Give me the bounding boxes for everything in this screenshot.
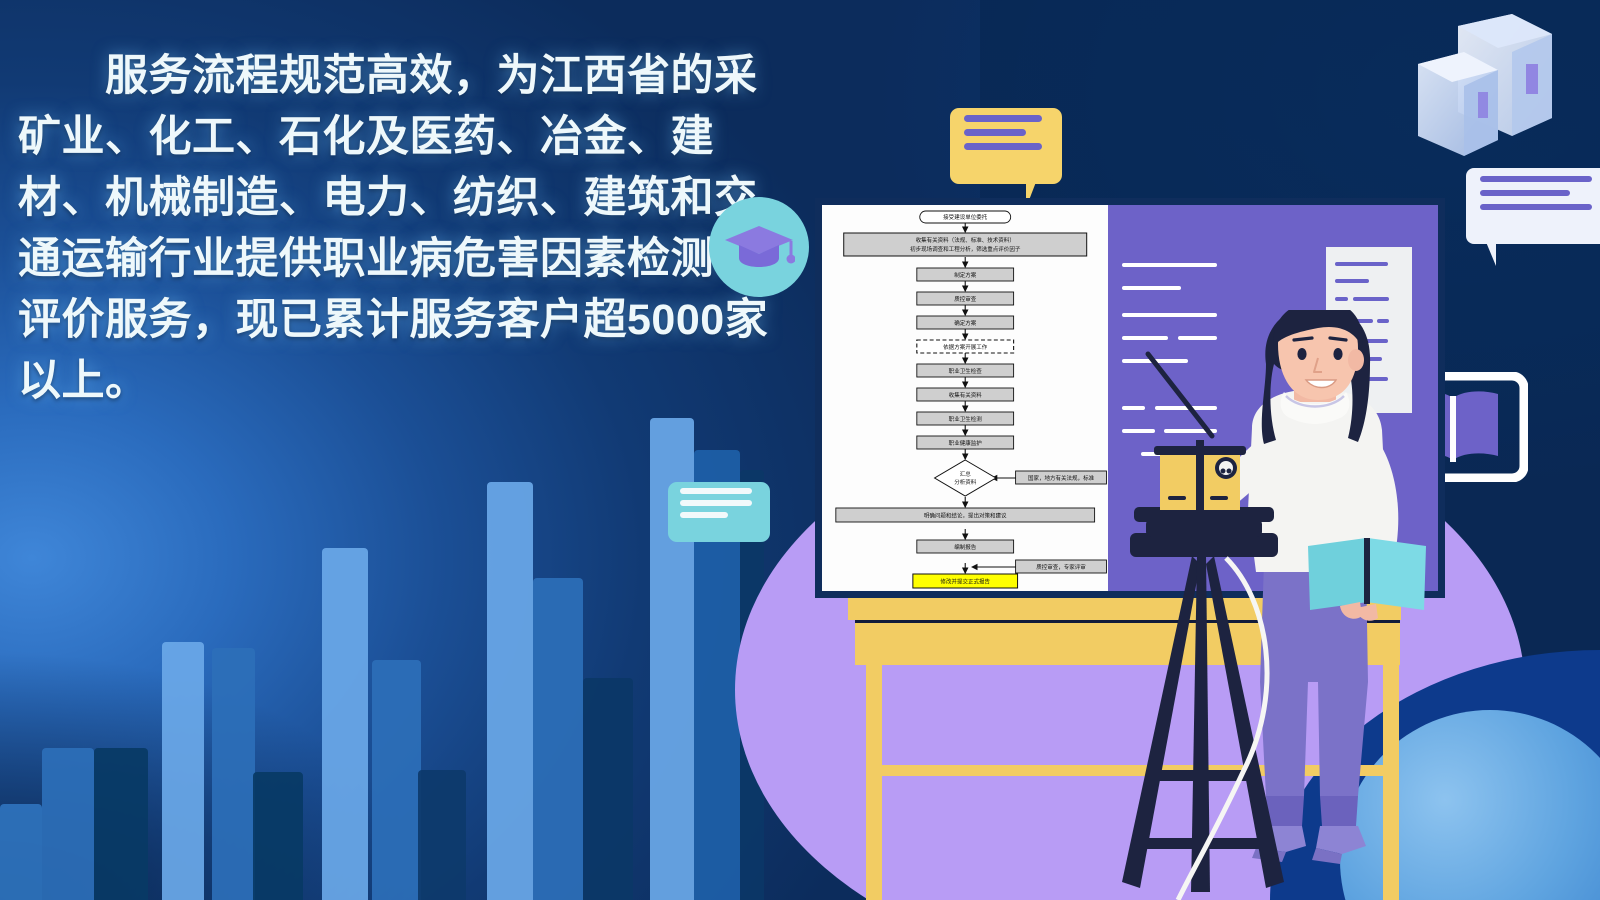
chart-bar — [42, 748, 94, 900]
svg-text:接受建设单位委托: 接受建设单位委托 — [943, 213, 988, 221]
chart-bar — [372, 660, 421, 900]
svg-text:汇总: 汇总 — [960, 470, 971, 478]
svg-text:质控审查，专家评审: 质控审查，专家评审 — [1036, 563, 1086, 571]
svg-text:依据方案开展工作: 依据方案开展工作 — [943, 343, 988, 351]
svg-text:职业健康监护: 职业健康监护 — [949, 439, 983, 447]
projector-tripod — [1088, 440, 1318, 900]
chart-bar — [533, 578, 583, 900]
svg-text:收集有关资料（法规、标准、技术资料）: 收集有关资料（法规、标准、技术资料） — [916, 236, 1015, 244]
table-leg-left — [866, 665, 882, 900]
svg-text:初步现场调查和工程分析，筛选重点评价因子: 初步现场调查和工程分析，筛选重点评价因子 — [910, 245, 1021, 253]
svg-text:收集有关资料: 收集有关资料 — [949, 391, 983, 399]
background-bar-chart — [0, 480, 790, 900]
svg-text:确定方案: 确定方案 — [954, 319, 977, 327]
flowchart-panel: 接受建设单位委托 收集有关资料（法规、标准、技术资料） 初步现场调查和工程分析，… — [822, 205, 1108, 591]
svg-text:分析资料: 分析资料 — [954, 478, 977, 486]
svg-text:职业卫生检查: 职业卫生检查 — [949, 367, 983, 375]
graduation-cap-icon — [709, 197, 809, 297]
svg-text:职业卫生检测: 职业卫生检测 — [949, 415, 983, 423]
svg-text:制定方案: 制定方案 — [954, 271, 977, 279]
chart-bar — [322, 548, 368, 900]
headline-text: 服务流程规范高效，为江西省的采矿业、化工、石化及医药、冶金、建材、机械制造、电力… — [18, 46, 778, 412]
chart-bar — [162, 642, 204, 900]
pointer-stick — [1140, 340, 1250, 450]
svg-text:修改并提交正式报告: 修改并提交正式报告 — [940, 578, 990, 586]
document-card-icon — [1466, 168, 1600, 244]
chart-bar — [94, 748, 148, 900]
svg-text:明确问题和结论，提出对策和建议: 明确问题和结论，提出对策和建议 — [924, 512, 1007, 520]
svg-text:编制报告: 编制报告 — [954, 543, 977, 551]
chart-bar — [0, 804, 42, 900]
chart-bar — [487, 482, 533, 900]
chart-bar — [418, 770, 466, 900]
note-card-icon — [668, 482, 770, 542]
chart-bar — [583, 678, 633, 900]
books-3d-icon — [1380, 8, 1580, 188]
banner-canvas: 服务流程规范高效，为江西省的采矿业、化工、石化及医药、冶金、建材、机械制造、电力… — [0, 0, 1600, 900]
svg-text:国家，地方有关法规，标准: 国家，地方有关法规，标准 — [1028, 474, 1095, 482]
chart-bar — [212, 648, 255, 900]
speech-bubble-icon — [950, 108, 1062, 184]
svg-text:质控审查: 质控审查 — [954, 295, 977, 303]
chart-bar — [253, 772, 303, 900]
